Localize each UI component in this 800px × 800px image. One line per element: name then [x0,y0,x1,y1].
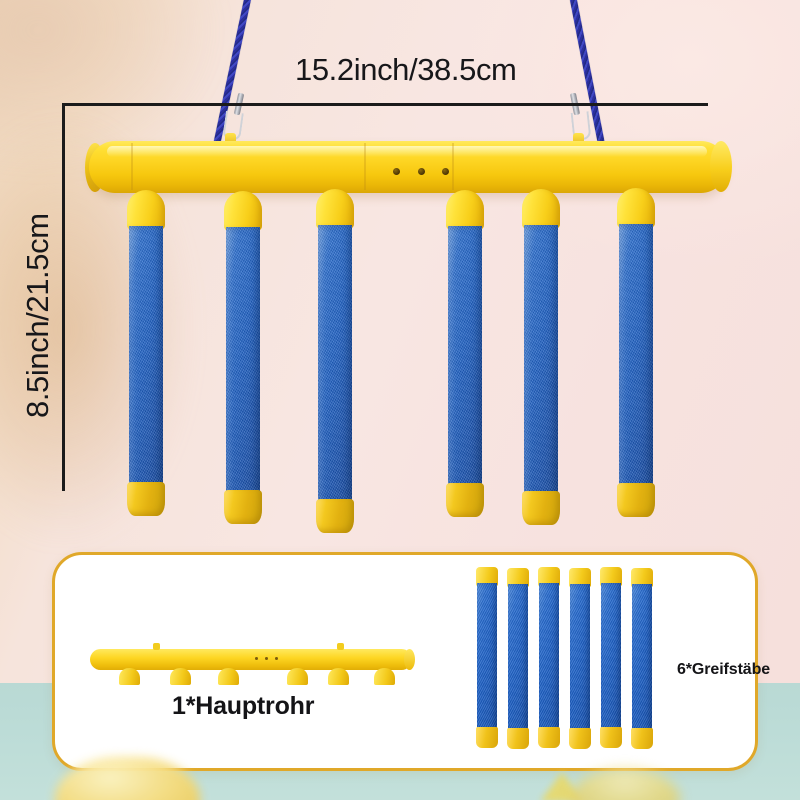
rod-bottom-cap [522,491,560,525]
parts-card-tube-peg [119,668,140,685]
rod-body [318,225,352,505]
rod-bottom-cap [127,482,165,516]
rod-bottom-cap [446,483,484,517]
rod-body [524,225,558,497]
rod-body [448,226,482,489]
rod-top-cap [446,190,484,230]
rod-body [129,226,163,488]
main-tube-seam [364,143,366,190]
dimension-label-width: 15.2inch/38.5cm [295,52,516,88]
tube-hole [418,168,425,175]
stick-bottom-cap [631,728,653,749]
rod-top-cap [224,191,262,231]
tube-hole [442,168,449,175]
dimension-label-height: 8.5inch/21.5cm [20,218,56,418]
stick-body [539,583,559,731]
rod-body [226,227,260,497]
stick-bottom-cap [507,728,529,749]
parts-card-label-grab-sticks: 6*Greifstäbe [677,661,770,679]
rod-bottom-cap [224,490,262,524]
rod-bottom-cap [316,499,354,533]
parts-card-tube-clip [153,643,160,650]
stick-bottom-cap [538,727,560,748]
stick-bottom-cap [600,727,622,748]
dimension-line-horizontal [62,103,708,106]
main-tube-end-cap-right [710,141,732,192]
main-tube-seam [452,143,454,190]
parts-card-tube-peg [287,668,308,685]
tube-hole [393,168,400,175]
parts-card-main-tube-cap [404,649,415,670]
rod-top-cap [522,189,560,229]
stick-body [508,584,528,732]
tube-hole [265,657,268,660]
stick-body [632,584,652,732]
parts-card-main-tube [90,649,412,670]
stick-body [570,584,590,732]
parts-card-main-tube-holes [255,657,278,661]
tube-hole [255,657,258,660]
parts-card-tube-clip [337,643,344,650]
parts-card-tube-peg [374,668,395,685]
stick-body [477,583,497,731]
product-image-scene: 15.2inch/38.5cm 8.5inch/21.5cm 1*Hauptro… [0,0,800,800]
parts-card-tube-peg [218,668,239,685]
stick-bottom-cap [569,728,591,749]
main-tube-seam [131,143,133,190]
rod-bottom-cap [617,483,655,517]
tube-hole [275,657,278,660]
main-tube [89,141,727,193]
parts-card-tube-peg [170,668,191,685]
parts-card-tube-peg [328,668,349,685]
stick-bottom-cap [476,727,498,748]
main-tube-holes [393,168,449,176]
rod-top-cap [617,188,655,228]
rod-body [619,224,653,489]
rod-top-cap [316,189,354,229]
stick-body [601,583,621,731]
rod-top-cap [127,190,165,230]
parts-card-label-main-tube: 1*Hauptrohr [172,692,314,721]
dimension-line-vertical [62,103,65,491]
